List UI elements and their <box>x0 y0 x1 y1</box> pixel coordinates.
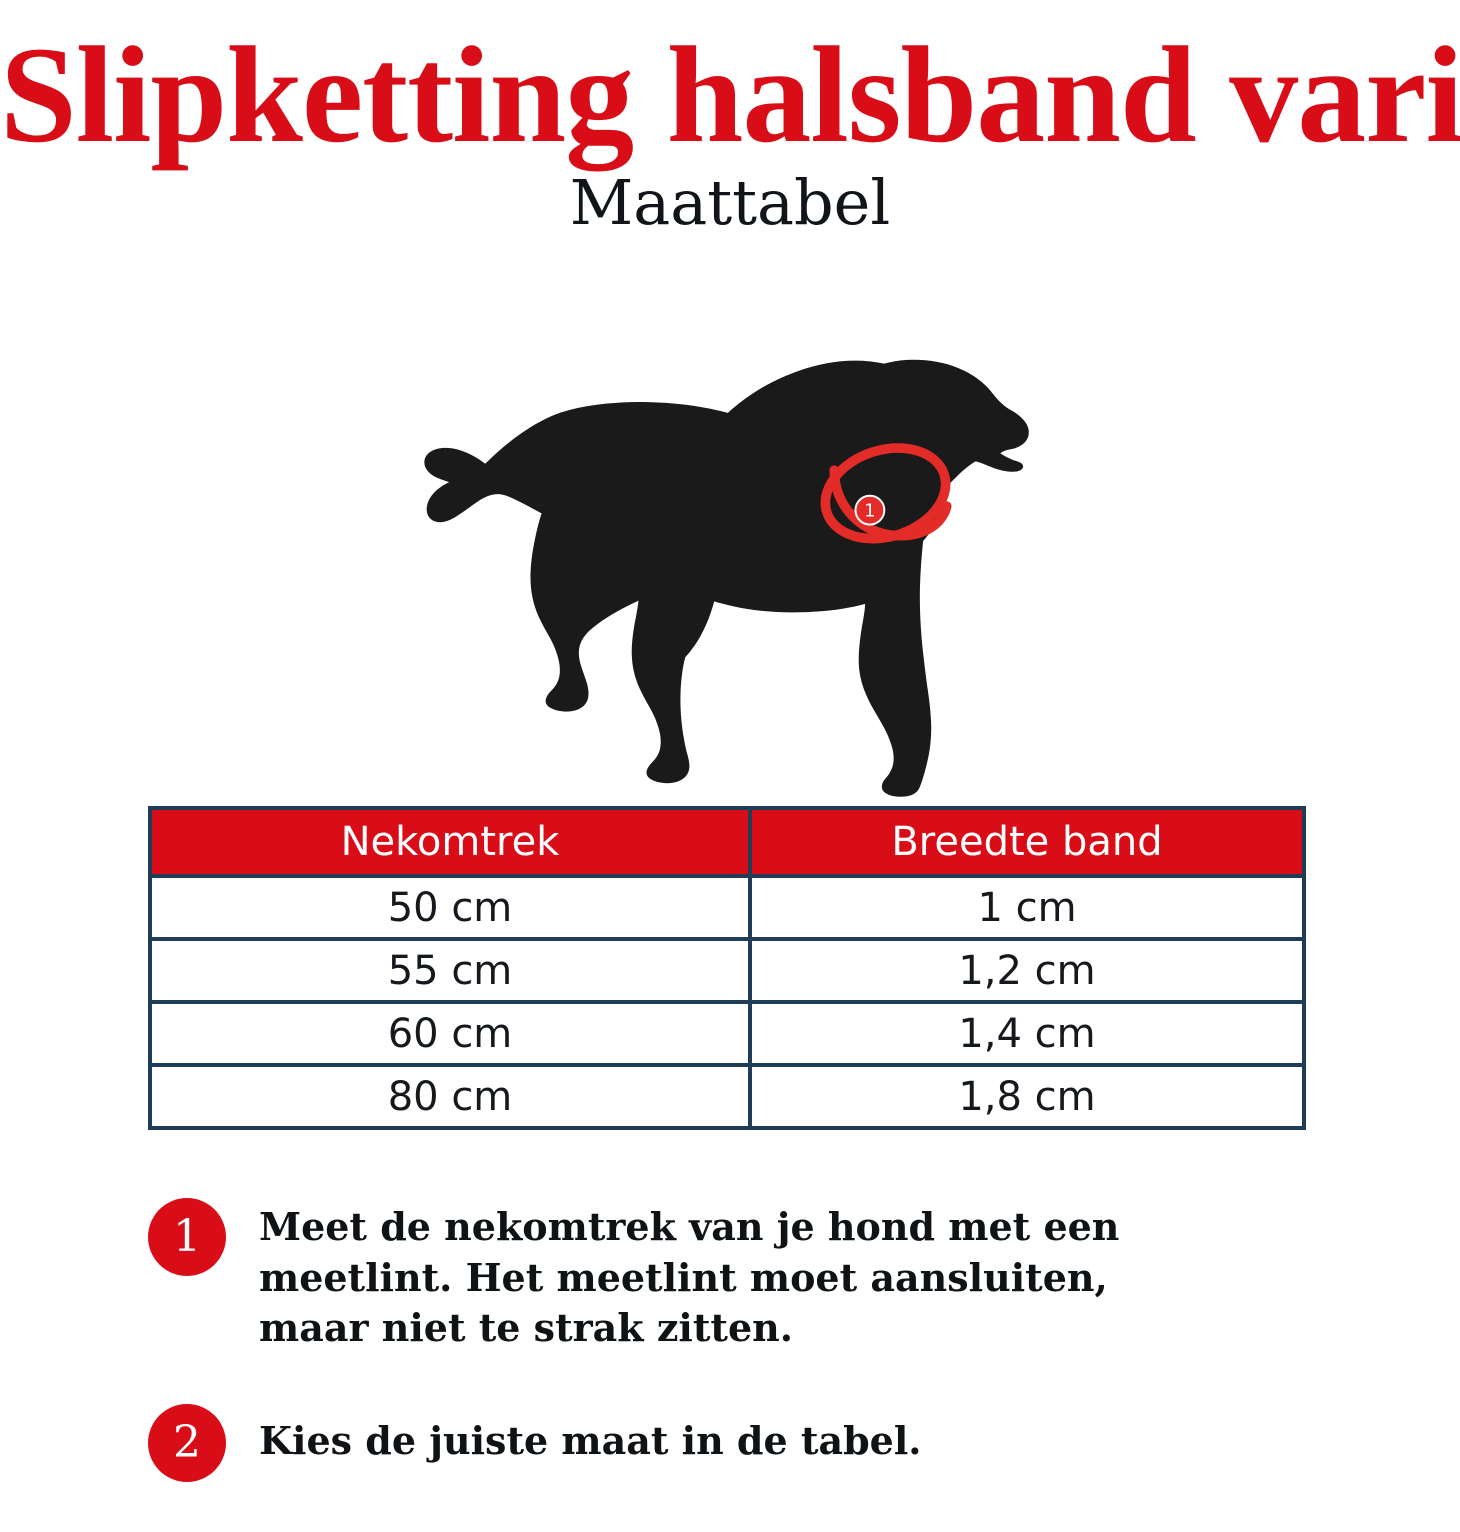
cell-breedte-band: 1 cm <box>750 876 1304 939</box>
collar-marker-1: 1 <box>855 496 884 525</box>
table-header-row: Nekomtrek Breedte band <box>150 808 1304 876</box>
instruction-step: 2 Kies de juiste maat in de tabel. <box>148 1402 1328 1484</box>
cell-nekomtrek: 60 cm <box>150 1002 750 1065</box>
table-header-breedte-band: Breedte band <box>750 808 1304 876</box>
table-row: 55 cm 1,2 cm <box>150 939 1304 1002</box>
cell-nekomtrek: 55 cm <box>150 939 750 1002</box>
table-header-nekomtrek: Nekomtrek <box>150 808 750 876</box>
step-number-badge: 2 <box>148 1404 226 1482</box>
dog-body-shape <box>424 360 1028 797</box>
cell-breedte-band: 1,8 cm <box>750 1065 1304 1128</box>
instruction-steps: 1 Meet de nekomtrek van je hond met een … <box>148 1196 1328 1532</box>
step-number-badge: 1 <box>148 1198 226 1276</box>
table-row: 50 cm 1 cm <box>150 876 1304 939</box>
header: Slipketting halsband vario Maattabel <box>0 0 1460 270</box>
table-row: 60 cm 1,4 cm <box>150 1002 1304 1065</box>
step-text: Kies de juiste maat in de tabel. <box>259 1402 1219 1467</box>
cell-breedte-band: 1,2 cm <box>750 939 1304 1002</box>
instruction-step: 1 Meet de nekomtrek van je hond met een … <box>148 1196 1328 1354</box>
cell-breedte-band: 1,4 cm <box>750 1002 1304 1065</box>
step-text: Meet de nekomtrek van je hond met een me… <box>259 1196 1219 1354</box>
dog-silhouette-illustration: 1 <box>420 350 1040 800</box>
size-chart-table: Nekomtrek Breedte band 50 cm 1 cm 55 cm … <box>148 806 1306 1130</box>
table-row: 80 cm 1,8 cm <box>150 1065 1304 1128</box>
cell-nekomtrek: 80 cm <box>150 1065 750 1128</box>
page-title: Slipketting halsband vario <box>0 26 1460 164</box>
collar-marker-label: 1 <box>864 502 875 522</box>
cell-nekomtrek: 50 cm <box>150 876 750 939</box>
page-subtitle: Maattabel <box>0 172 1460 234</box>
dog-silhouette-svg: 1 <box>420 350 1040 800</box>
